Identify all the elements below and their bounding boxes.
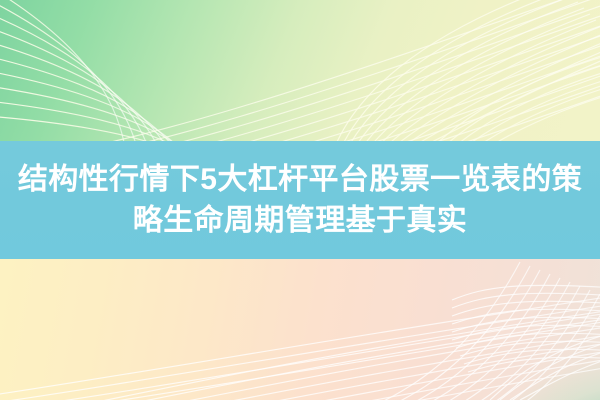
banner-image: 结构性行情下5大杠杆平台股票一览表的策略生命周期管理基于真实: [0, 0, 600, 400]
bottom-gradient-zone: [0, 259, 600, 400]
headline-band: 结构性行情下5大杠杆平台股票一览表的策略生命周期管理基于真实: [0, 141, 600, 259]
top-gradient-zone: [0, 0, 600, 141]
page-title: 结构性行情下5大杠杆平台股票一览表的策略生命周期管理基于真实: [10, 159, 590, 241]
bottom-right-green-accent: [360, 270, 600, 400]
